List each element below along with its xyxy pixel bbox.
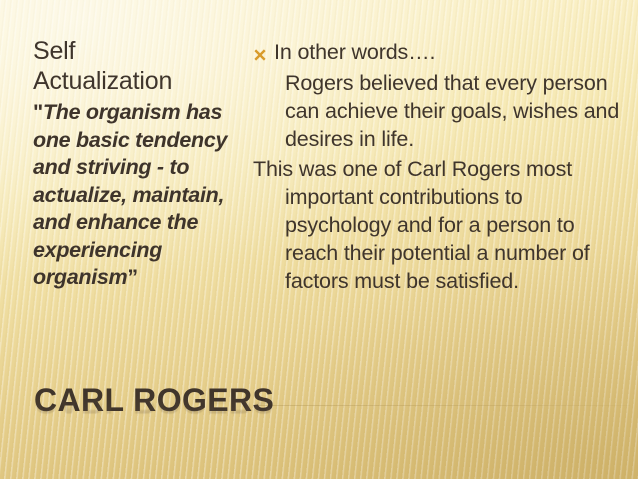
opening-quote-mark: " <box>33 100 43 124</box>
paragraph-contributions: This was one of Carl Rogers most importa… <box>253 155 625 296</box>
closing-quote-mark: ” <box>127 265 137 289</box>
paragraph-rogers-belief: Rogers believed that every person can ac… <box>253 69 625 154</box>
left-content-column: Self Actualization "The organism has one… <box>33 36 245 292</box>
heading-self-actualization: Self Actualization <box>33 36 245 96</box>
bullet-list-item: In other words…. <box>253 38 625 69</box>
page-title-reflection: CARL ROGERS <box>34 384 364 420</box>
bullet-line-text: In other words…. <box>274 38 435 66</box>
right-content-column: In other words…. Rogers believed that ev… <box>253 38 625 296</box>
quote-body-text: The organism has one basic tendency and … <box>33 100 227 289</box>
x-bullet-icon <box>253 41 267 69</box>
slide-canvas: Self Actualization "The organism has one… <box>0 0 638 479</box>
slide-title-block: CARL ROGERS CARL ROGERS <box>34 382 364 472</box>
carl-rogers-quote: "The organism has one basic tendency and… <box>33 99 245 292</box>
